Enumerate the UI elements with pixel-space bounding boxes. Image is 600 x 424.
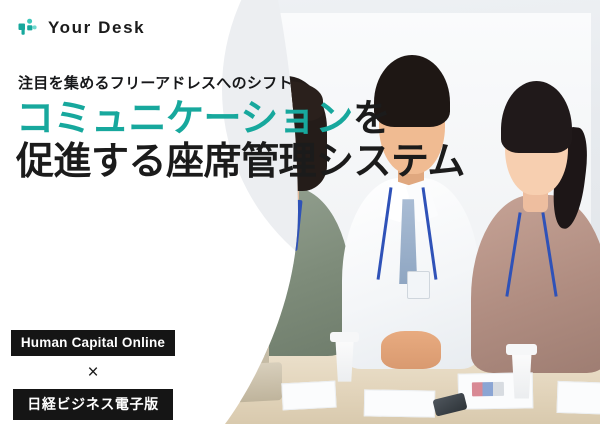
- document-sheet: [281, 380, 336, 410]
- badge-nikkei-business: 日経ビジネス電子版: [13, 389, 172, 420]
- hero-banner: Your Desk 注目を集めるフリーアドレスへのシフト コミュニケーションを …: [0, 0, 600, 424]
- headline-line-2: 促進する座席管理システム: [16, 141, 465, 184]
- page-title: コミュニケーションを 促進する座席管理システム: [16, 98, 465, 185]
- brand-name: Your Desk: [48, 18, 145, 38]
- your-desk-logo-mark-icon: [17, 17, 39, 39]
- partner-badges: Human Capital Online × 日経ビジネス電子版: [17, 330, 169, 420]
- badge-human-capital-online: Human Capital Online: [11, 330, 175, 356]
- brand-logo[interactable]: Your Desk: [17, 17, 145, 39]
- badge-separator-x-icon: ×: [87, 363, 98, 382]
- hero-kicker: 注目を集めるフリーアドレスへのシフト: [18, 72, 293, 93]
- coffee-cup-lid: [330, 332, 358, 342]
- person-man-center-id-badge: [407, 271, 431, 298]
- headline-line-1: コミュニケーションを: [16, 98, 465, 141]
- headline-accent-text: コミュニケーション: [16, 98, 353, 140]
- coffee-cup-lid: [506, 344, 537, 355]
- document-sheet: [556, 381, 600, 415]
- document-sheet: [363, 389, 434, 418]
- laptop-screen: [179, 277, 269, 377]
- headline-particle: を: [353, 98, 391, 140]
- person-man-center-hands: [381, 331, 441, 369]
- laptop-base: [170, 362, 282, 406]
